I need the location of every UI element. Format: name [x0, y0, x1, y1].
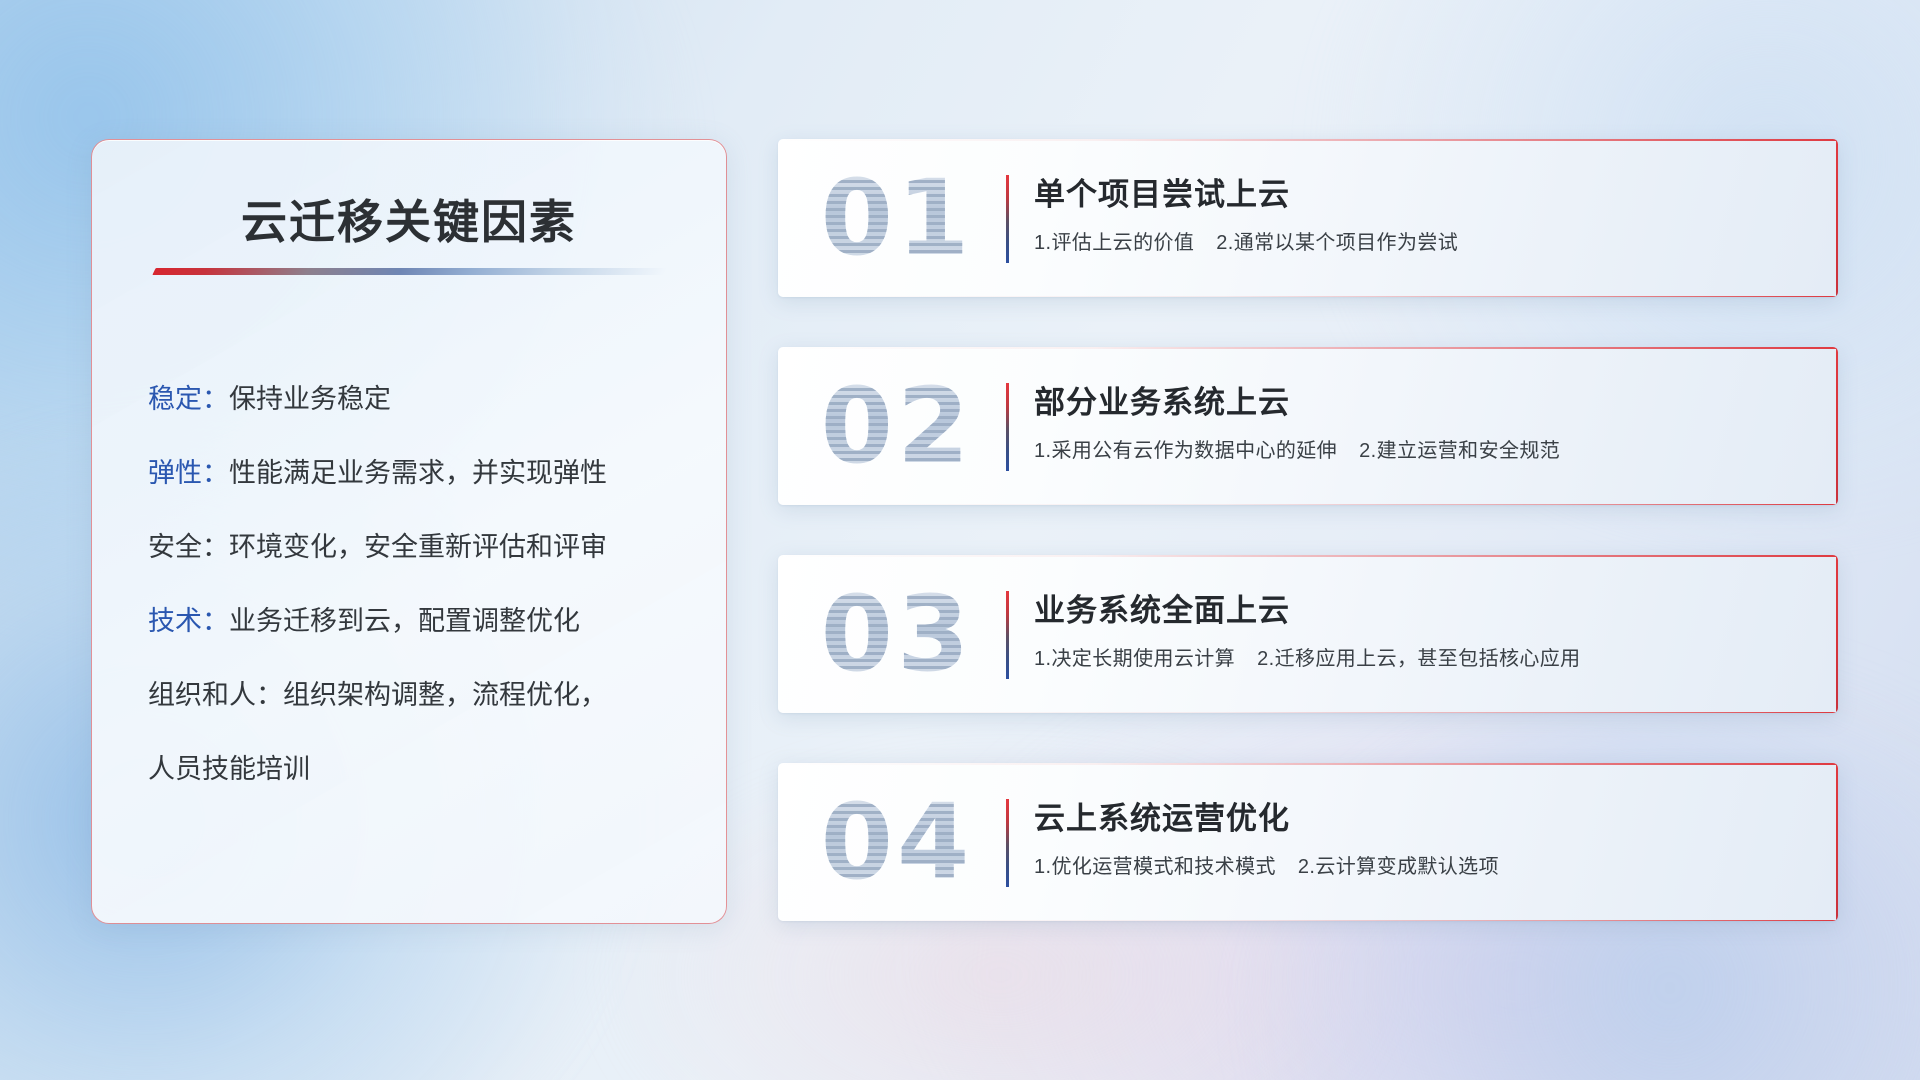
stage-description-item-1: 1.评估上云的价值	[1034, 232, 1194, 254]
stage-text-block: 部分业务系统上云1.采用公有云作为数据中心的延伸2.建立运营和安全规范	[1034, 377, 1808, 463]
key-factor-label: 弹性：	[148, 458, 229, 488]
key-factor-row: 弹性：性能满足业务需求，并实现弹性	[148, 436, 692, 510]
stage-description-item-1: 1.优化运营模式和技术模式	[1034, 856, 1276, 878]
migration-stage-card[interactable]: 02部分业务系统上云1.采用公有云作为数据中心的延伸2.建立运营和安全规范	[778, 347, 1838, 505]
key-factor-label: 稳定：	[148, 384, 229, 414]
stage-divider-bar	[1006, 175, 1009, 263]
key-factors-list: 稳定：保持业务稳定弹性：性能满足业务需求，并实现弹性安全：环境变化，安全重新评估…	[148, 362, 692, 806]
stage-description-item-2: 2.建立运营和安全规范	[1359, 440, 1560, 462]
key-factor-row: 安全：环境变化，安全重新评估和评审	[148, 510, 692, 584]
migration-stage-card[interactable]: 03业务系统全面上云1.决定长期使用云计算2.迁移应用上云，甚至包括核心应用	[778, 555, 1838, 713]
key-factor-text: 保持业务稳定	[229, 384, 391, 414]
key-factors-panel: 云迁移关键因素 稳定：保持业务稳定弹性：性能满足业务需求，并实现弹性安全：环境变…	[91, 139, 727, 924]
card-bottom-accent-line	[778, 712, 1838, 714]
stage-description: 1.决定长期使用云计算2.迁移应用上云，甚至包括核心应用	[1034, 642, 1808, 671]
stage-description: 1.优化运营模式和技术模式2.云计算变成默认选项	[1034, 850, 1808, 879]
stage-divider-bar	[1006, 591, 1009, 679]
stage-description-item-2: 2.云计算变成默认选项	[1298, 856, 1499, 878]
migration-stage-card[interactable]: 04云上系统运营优化1.优化运营模式和技术模式2.云计算变成默认选项	[778, 763, 1838, 921]
stage-title: 单个项目尝试上云	[1034, 169, 1808, 214]
key-factor-text: 环境变化，安全重新评估和评审	[229, 532, 607, 562]
page-title: 云迁移关键因素	[92, 186, 726, 252]
key-factor-label: 组织和人：	[148, 680, 283, 710]
key-factor-row: 稳定：保持业务稳定	[148, 362, 692, 436]
stage-number: 04	[802, 783, 992, 901]
title-underline-accent	[152, 268, 667, 275]
stage-title: 云上系统运营优化	[1034, 793, 1808, 838]
card-bottom-accent-line	[778, 920, 1838, 922]
stage-description: 1.评估上云的价值2.通常以某个项目作为尝试	[1034, 226, 1808, 255]
migration-stages-list: 01单个项目尝试上云1.评估上云的价值2.通常以某个项目作为尝试02部分业务系统…	[778, 139, 1838, 971]
stage-divider-bar	[1006, 799, 1009, 887]
migration-stage-card[interactable]: 01单个项目尝试上云1.评估上云的价值2.通常以某个项目作为尝试	[778, 139, 1838, 297]
key-factor-label: 安全：	[148, 532, 229, 562]
key-factor-text: 性能满足业务需求，并实现弹性	[229, 458, 607, 488]
key-factor-label: 技术：	[148, 606, 229, 636]
stage-description-item-2: 2.通常以某个项目作为尝试	[1216, 232, 1458, 254]
card-bottom-accent-line	[778, 504, 1838, 506]
key-factor-row: 组织和人：组织架构调整，流程优化，	[148, 658, 692, 732]
stage-description-item-1: 1.采用公有云作为数据中心的延伸	[1034, 440, 1337, 462]
stage-number: 01	[802, 159, 992, 277]
stage-text-block: 云上系统运营优化1.优化运营模式和技术模式2.云计算变成默认选项	[1034, 793, 1808, 879]
stage-description-item-1: 1.决定长期使用云计算	[1034, 648, 1235, 670]
card-bottom-accent-line	[778, 296, 1838, 298]
stage-divider-bar	[1006, 383, 1009, 471]
stage-text-block: 单个项目尝试上云1.评估上云的价值2.通常以某个项目作为尝试	[1034, 169, 1808, 255]
stage-description-item-2: 2.迁移应用上云，甚至包括核心应用	[1257, 648, 1580, 670]
stage-title: 部分业务系统上云	[1034, 377, 1808, 422]
key-factor-text: 人员技能培训	[148, 754, 310, 784]
stage-number: 03	[802, 575, 992, 693]
stage-text-block: 业务系统全面上云1.决定长期使用云计算2.迁移应用上云，甚至包括核心应用	[1034, 585, 1808, 671]
slide-canvas: 云迁移关键因素 稳定：保持业务稳定弹性：性能满足业务需求，并实现弹性安全：环境变…	[0, 0, 1920, 1080]
stage-title: 业务系统全面上云	[1034, 585, 1808, 630]
key-factor-text: 业务迁移到云，配置调整优化	[229, 606, 580, 636]
key-factor-row: 人员技能培训	[148, 732, 692, 806]
key-factor-row: 技术：业务迁移到云，配置调整优化	[148, 584, 692, 658]
key-factor-text: 组织架构调整，流程优化，	[283, 680, 607, 710]
stage-description: 1.采用公有云作为数据中心的延伸2.建立运营和安全规范	[1034, 434, 1808, 463]
stage-number: 02	[802, 367, 992, 485]
